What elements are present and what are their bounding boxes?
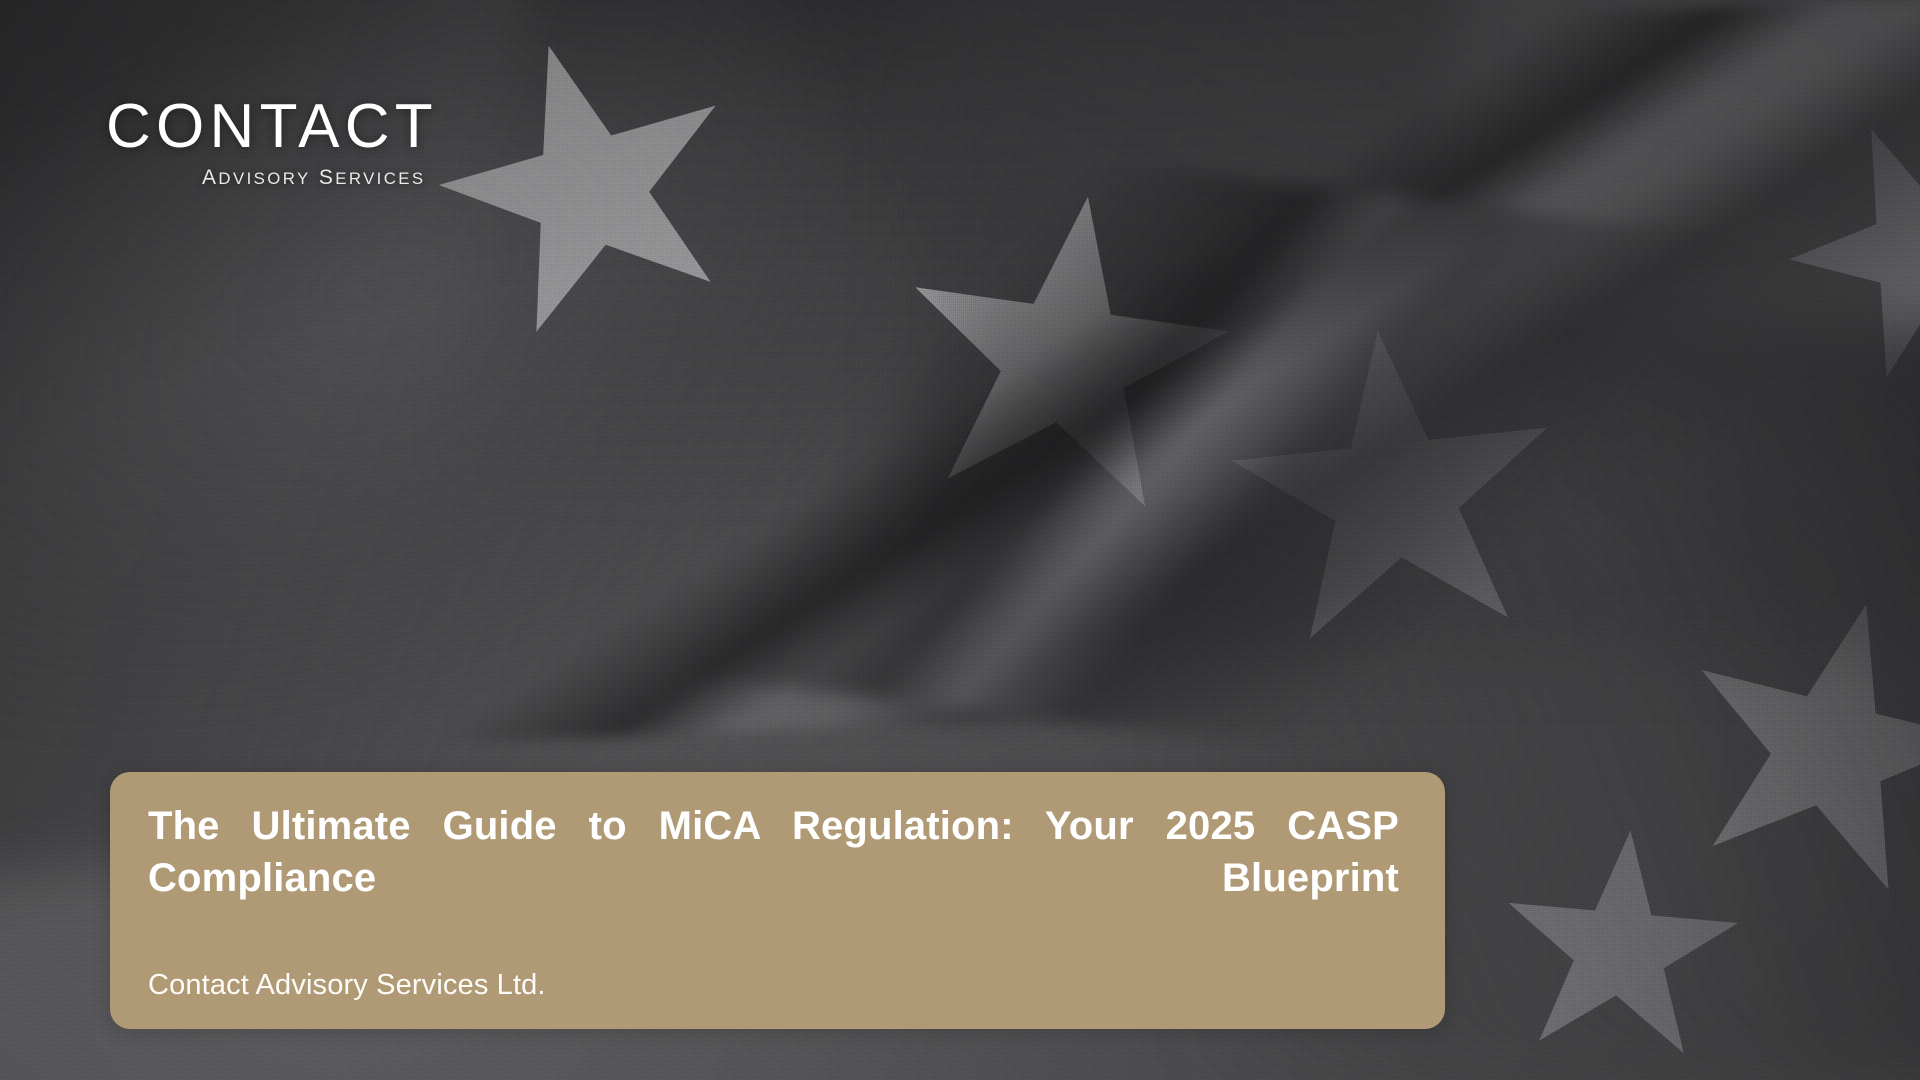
cover-page: CONTACT ADVISORY SERVICES The Ultimate G… [0,0,1920,1080]
title-banner: The Ultimate Guide to MiCA Regulation: Y… [110,772,1445,1029]
page-title: The Ultimate Guide to MiCA Regulation: Y… [148,800,1399,956]
logo-tagline: ADVISORY SERVICES [202,167,438,188]
page-subtitle: Contact Advisory Services Ltd. [148,968,1399,1003]
brand-logo: CONTACT ADVISORY SERVICES [106,96,438,188]
logo-wordmark: CONTACT [106,96,438,158]
